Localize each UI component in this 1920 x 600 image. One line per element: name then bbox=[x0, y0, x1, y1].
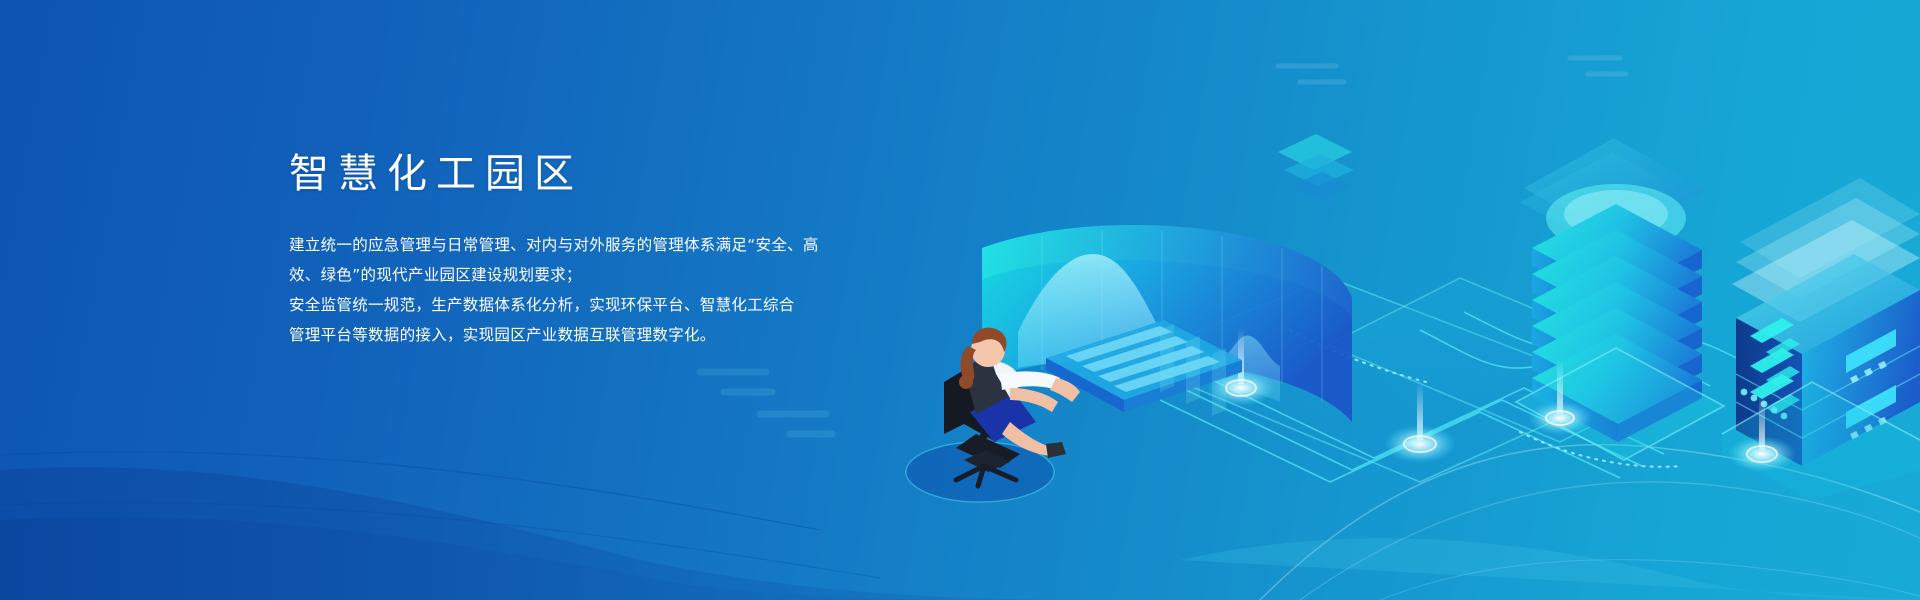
description-line-2: 效、绿色”的现代产业园区建设规划要求； bbox=[289, 260, 889, 290]
hero-banner: 智慧化工园区 建立统一的应急管理与日常管理、对内与对外服务的管理体系满足“安全、… bbox=[0, 0, 1920, 600]
floating-cube bbox=[1278, 134, 1354, 200]
hero-description: 建立统一的应急管理与日常管理、对内与对外服务的管理体系满足“安全、高 效、绿色”… bbox=[289, 200, 889, 350]
description-line-4: 管理平台等数据的接入，实现园区产业数据互联管理数字化。 bbox=[289, 320, 889, 350]
cloud-wisps-left bbox=[700, 372, 832, 434]
wave-light-3 bbox=[1380, 560, 1920, 600]
wave-line-2 bbox=[0, 503, 880, 578]
description-line-1: 建立统一的应急管理与日常管理、对内与对外服务的管理体系满足“安全、高 bbox=[289, 230, 889, 260]
wave-line-1 bbox=[0, 452, 820, 530]
wave-light-fill bbox=[1180, 538, 1920, 600]
page-title: 智慧化工园区 bbox=[289, 148, 889, 200]
isometric-illustration bbox=[860, 30, 1920, 500]
wave-dark-2 bbox=[0, 517, 1020, 600]
hero-copy: 智慧化工园区 建立统一的应急管理与日常管理、对内与对外服务的管理体系满足“安全、… bbox=[289, 148, 889, 350]
description-line-3: 安全监管统一规范，生产数据体系化分析，实现环保平台、智慧化工综合 bbox=[289, 290, 889, 320]
